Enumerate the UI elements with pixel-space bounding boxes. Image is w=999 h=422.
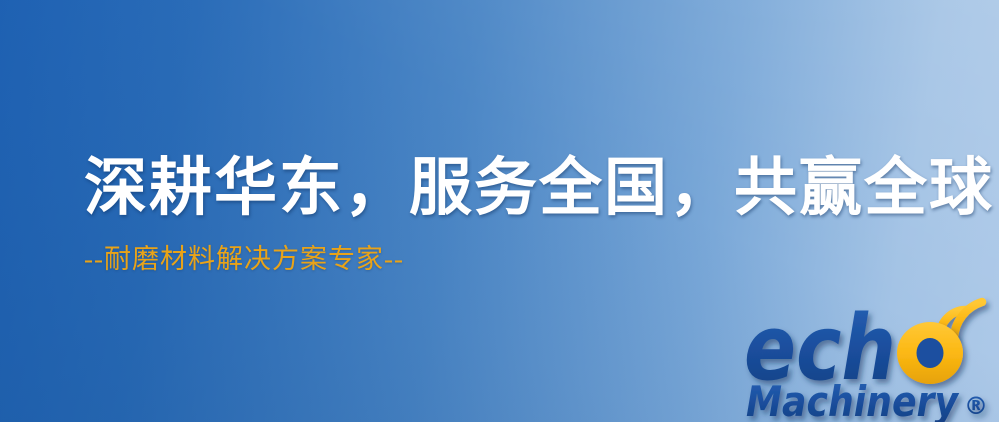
banner-subtitle: --耐磨材料解决方案专家-- [84,228,994,276]
page-title: 深耕华东，服务全国，共赢全球 [84,148,994,228]
hero-banner: 深耕华东，服务全国，共赢全球 --耐磨材料解决方案专家-- [0,0,999,422]
echo-machinery-logo[interactable]: ech Machinery ® [744,296,994,422]
logo-wordmark-machinery: Machinery ® [746,377,988,422]
banner-text-block: 深耕华东，服务全国，共赢全球 --耐磨材料解决方案专家-- [84,148,994,276]
svg-text:Machinery: Machinery [746,377,959,422]
svg-text:®: ® [964,392,988,420]
logo-letter-o [897,322,963,384]
